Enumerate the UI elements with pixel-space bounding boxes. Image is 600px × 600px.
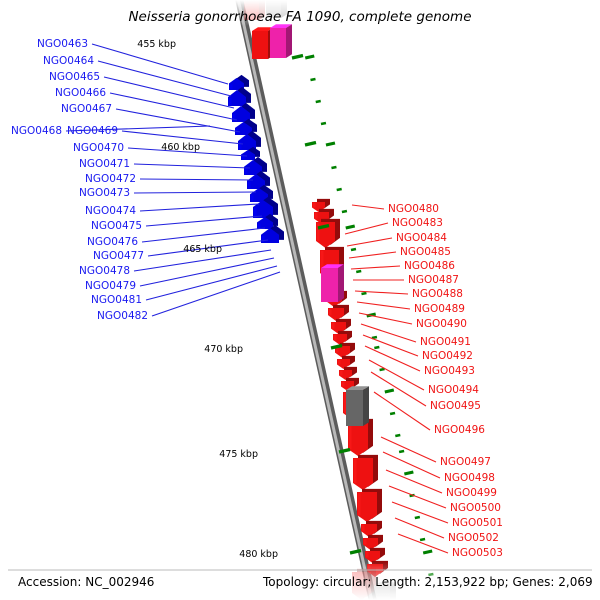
gene-arrow-forward-gloss xyxy=(338,360,341,365)
gene-arrow-forward-gloss xyxy=(334,335,337,340)
minor-tick xyxy=(423,551,432,553)
genome-axis-highlight xyxy=(237,0,373,600)
gene-label-reverse-label[interactable]: NGO0464 xyxy=(43,55,94,67)
minor-tick xyxy=(326,143,335,145)
gene-label-reverse-label[interactable]: NGO0468 xyxy=(11,125,62,137)
gene-label-reverse-label[interactable]: NGO0469 xyxy=(67,125,118,137)
gene-label-forward-label[interactable]: NGO0480 xyxy=(388,203,439,215)
gene-label-reverse-leader xyxy=(142,228,265,242)
minor-tick xyxy=(385,390,394,392)
gene-arrow-forward-gloss xyxy=(317,223,320,241)
page-title: Neisseria gonorrhoeae FA 1090, complete … xyxy=(128,9,471,25)
gene-label-reverse-label[interactable]: NGO0476 xyxy=(87,236,138,248)
gene-label-forward-label[interactable]: NGO0483 xyxy=(392,217,443,229)
gene-label-forward-label[interactable]: NGO0486 xyxy=(404,260,455,272)
gene-arrow-reverse-gloss xyxy=(229,98,232,105)
scale-label: 455 kbp xyxy=(137,39,176,50)
gene-label-forward-label[interactable]: NGO0497 xyxy=(440,456,491,468)
gene-label-reverse-label[interactable]: NGO0478 xyxy=(79,265,130,277)
gene-label-reverse-leader xyxy=(104,77,234,108)
gene-label-forward-leader xyxy=(395,518,444,538)
gene-label-forward-label[interactable]: NGO0502 xyxy=(448,532,499,544)
gene-label-forward-label[interactable]: NGO0500 xyxy=(450,502,501,514)
gene-label-reverse-leader xyxy=(134,164,250,168)
gene-label-reverse-label[interactable]: NGO0474 xyxy=(85,205,136,217)
gene-arrow-reverse-gloss xyxy=(239,142,242,149)
gene-label-reverse-label[interactable]: NGO0471 xyxy=(79,158,130,170)
gene-label-reverse-label[interactable]: NGO0475 xyxy=(91,220,142,232)
gene-label-reverse-leader xyxy=(134,192,256,193)
gene-label-forward-label[interactable]: NGO0485 xyxy=(400,246,451,258)
gene-label-forward-label[interactable]: NGO0501 xyxy=(452,517,503,529)
gene-label-forward-leader xyxy=(351,266,400,269)
gene-label-forward-leader xyxy=(361,324,416,342)
gene-label-reverse-label[interactable]: NGO0470 xyxy=(73,142,124,154)
gene-arrow-reverse-gloss xyxy=(248,182,251,188)
gene-label-forward-label[interactable]: NGO0489 xyxy=(414,303,465,315)
gene-label-forward-leader xyxy=(347,238,392,246)
gene-label-forward-leader xyxy=(374,392,430,430)
gene-label-forward-leader xyxy=(369,360,424,390)
minor-tick xyxy=(337,189,342,190)
minor-tick xyxy=(310,79,315,80)
gene-label-reverse-label[interactable]: NGO0473 xyxy=(79,187,130,199)
scale-tick xyxy=(292,56,303,59)
genome-summary-text: Topology: circular; Length: 2,153,922 bp… xyxy=(262,575,593,589)
gene-label-reverse-leader xyxy=(146,216,262,226)
magenta-box-top-side xyxy=(286,24,292,58)
gene-label-reverse-label[interactable]: NGO0466 xyxy=(55,87,106,99)
gene-label-reverse-leader xyxy=(140,179,253,180)
gene-arrow-forward-gloss xyxy=(332,323,335,329)
gene-arrow-reverse-gloss xyxy=(245,168,248,174)
gene-arrow-forward-gloss xyxy=(313,203,316,208)
gene-label-forward-leader xyxy=(383,452,440,478)
minor-tick xyxy=(420,539,425,540)
gene-label-forward-leader xyxy=(363,335,418,356)
minor-tick xyxy=(361,293,366,294)
gene-arrow-forward-gloss xyxy=(329,309,332,315)
gene-label-forward-label[interactable]: NGO0496 xyxy=(434,424,485,436)
gene-arrow-forward-gloss xyxy=(354,459,357,483)
gray-box-mid-side xyxy=(363,386,369,426)
gene-label-forward-label[interactable]: NGO0492 xyxy=(422,350,473,362)
scale-label: 460 kbp xyxy=(161,142,200,153)
gene-label-forward-label[interactable]: NGO0490 xyxy=(416,318,467,330)
scale-label: 470 kbp xyxy=(204,344,243,355)
gene-arrow-reverse-gloss xyxy=(230,84,233,89)
minor-tick xyxy=(356,271,361,272)
gene-label-reverse-leader xyxy=(110,93,237,120)
gene-label-reverse-label[interactable]: NGO0479 xyxy=(85,280,136,292)
magenta-box-mid-front xyxy=(321,268,338,302)
red-box-top-front xyxy=(252,31,268,59)
gene-label-forward-label[interactable]: NGO0488 xyxy=(412,288,463,300)
scale-tick xyxy=(305,143,316,146)
accession-text: Accession: NC_002946 xyxy=(18,575,154,589)
minor-tick xyxy=(351,249,356,250)
magenta-box-mid-side xyxy=(338,264,344,302)
gene-label-reverse-label[interactable]: NGO0481 xyxy=(91,294,142,306)
gene-label-forward-label[interactable]: NGO0499 xyxy=(446,487,497,499)
scale-label: 465 kbp xyxy=(183,244,222,255)
minor-tick xyxy=(305,56,314,58)
minor-tick xyxy=(374,347,379,348)
scale-label: 480 kbp xyxy=(239,549,278,560)
gene-label-reverse-leader xyxy=(140,204,259,211)
gene-label-forward-label[interactable]: NGO0495 xyxy=(430,400,481,412)
gene-arrow-forward-gloss xyxy=(349,423,352,449)
minor-tick xyxy=(372,337,377,338)
gene-arrow-reverse-gloss xyxy=(254,208,257,217)
gene-label-forward-leader xyxy=(357,302,410,309)
minor-tick xyxy=(399,451,404,452)
gene-label-forward-leader xyxy=(389,486,446,508)
minor-tick xyxy=(380,369,385,370)
minor-tick xyxy=(316,101,321,102)
gene-arrow-forward-gloss xyxy=(358,493,361,515)
gene-arrow-forward-gloss xyxy=(315,213,318,219)
gene-label-forward-leader xyxy=(352,205,384,209)
scale-label: 475 kbp xyxy=(219,449,258,460)
minor-tick xyxy=(346,226,355,228)
gene-label-reverse-label[interactable]: NGO0477 xyxy=(93,250,144,262)
gene-label-forward-label[interactable]: NGO0498 xyxy=(444,472,495,484)
gene-arrow-reverse-gloss xyxy=(251,195,254,201)
genome-axis-group xyxy=(237,0,374,600)
minor-tick xyxy=(342,211,347,212)
minor-tick xyxy=(390,413,395,414)
genome-map-canvas[interactable]: NGO0463NGO0464NGO0465NGO0466NGO0467NGO04… xyxy=(0,0,600,600)
gene-arrow-forward-gloss xyxy=(342,382,345,387)
gene-label-forward-label[interactable]: NGO0484 xyxy=(396,232,447,244)
gene-label-forward-leader xyxy=(349,252,396,258)
gene-label-reverse-label[interactable]: NGO0465 xyxy=(49,71,100,83)
gene-arrow-forward-gloss xyxy=(366,552,369,558)
gene-label-forward-leader xyxy=(359,313,412,324)
gene-label-forward-label[interactable]: NGO0491 xyxy=(420,336,471,348)
gene-label-reverse-label[interactable]: NGO0482 xyxy=(97,310,148,322)
gene-arrow-forward-gloss xyxy=(364,539,367,545)
gene-label-reverse-label[interactable]: NGO0463 xyxy=(37,38,88,50)
minor-tick xyxy=(395,435,400,436)
minor-tick xyxy=(331,167,336,168)
gene-label-forward-label[interactable]: NGO0487 xyxy=(408,274,459,286)
gene-label-reverse-label[interactable]: NGO0467 xyxy=(61,103,112,115)
minor-tick xyxy=(404,472,413,474)
minor-tick xyxy=(415,517,420,518)
gene-label-forward-leader xyxy=(345,223,388,234)
magenta-box-top-front xyxy=(270,28,286,58)
genome-map-viewer: NGO0463NGO0464NGO0465NGO0466NGO0467NGO04… xyxy=(0,0,600,600)
gene-label-forward-leader xyxy=(381,437,436,462)
gene-label-forward-leader xyxy=(365,346,420,371)
gray-box-mid-front xyxy=(346,390,363,426)
gene-arrow-forward-gloss xyxy=(340,371,343,376)
gene-arrow-forward-gloss xyxy=(362,525,365,531)
gene-label-reverse-label[interactable]: NGO0472 xyxy=(85,173,136,185)
gene-label-forward-label[interactable]: NGO0503 xyxy=(452,547,503,559)
gene-arrow-reverse-gloss xyxy=(258,223,261,228)
gene-label-forward-leader xyxy=(371,372,426,406)
gene-label-forward-label[interactable]: NGO0493 xyxy=(424,365,475,377)
gene-label-forward-leader xyxy=(386,470,442,493)
minor-tick xyxy=(321,123,326,124)
gene-label-reverse-leader xyxy=(92,44,228,84)
gene-label-forward-label[interactable]: NGO0494 xyxy=(428,384,479,396)
